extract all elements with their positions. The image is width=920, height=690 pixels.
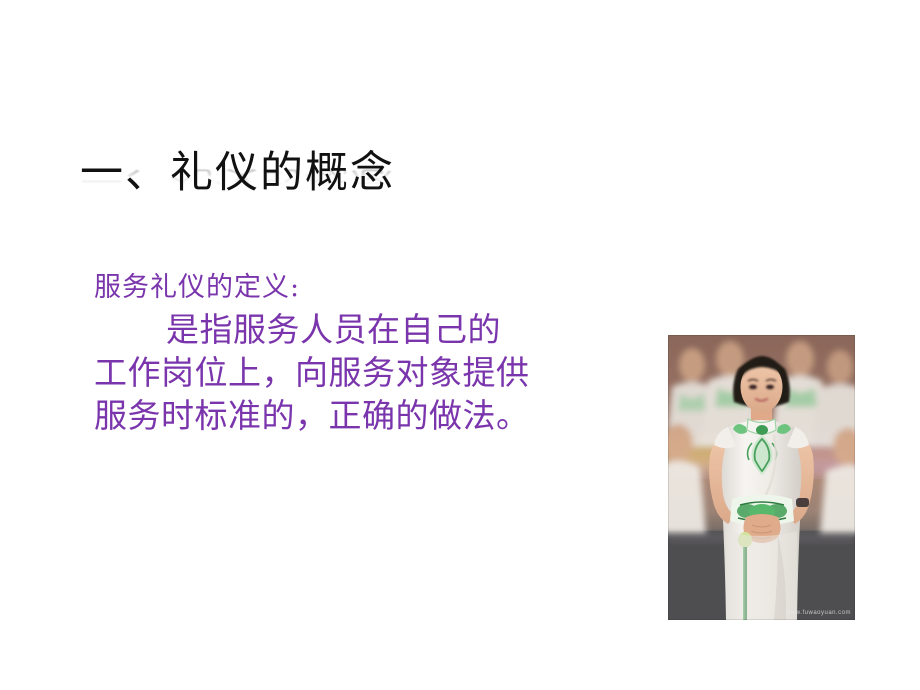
- slide-canvas: 一、礼仪的概念 一、礼仪的概念 服务礼仪的定义: 是指服务人员在自己的 工作岗位…: [0, 0, 920, 690]
- body-line-1: 服务礼仪的定义:: [94, 268, 594, 308]
- photo-illustration: [668, 335, 855, 620]
- photo-watermark: www.fuwaoyuan.com: [786, 610, 851, 616]
- body-line-4: 服务时标准的，正确的做法。: [94, 394, 594, 437]
- slide-title-block: 一、礼仪的概念 一、礼仪的概念: [80, 148, 600, 253]
- slide-body-block: 服务礼仪的定义: 是指服务人员在自己的 工作岗位上，向服务对象提供 服务时标准的…: [94, 268, 594, 437]
- body-line-2: 是指服务人员在自己的: [94, 308, 594, 351]
- etiquette-model-photo: www.fuwaoyuan.com: [668, 335, 855, 620]
- body-line-3: 工作岗位上，向服务对象提供: [94, 351, 594, 394]
- page-title: 一、礼仪的概念: [80, 148, 600, 198]
